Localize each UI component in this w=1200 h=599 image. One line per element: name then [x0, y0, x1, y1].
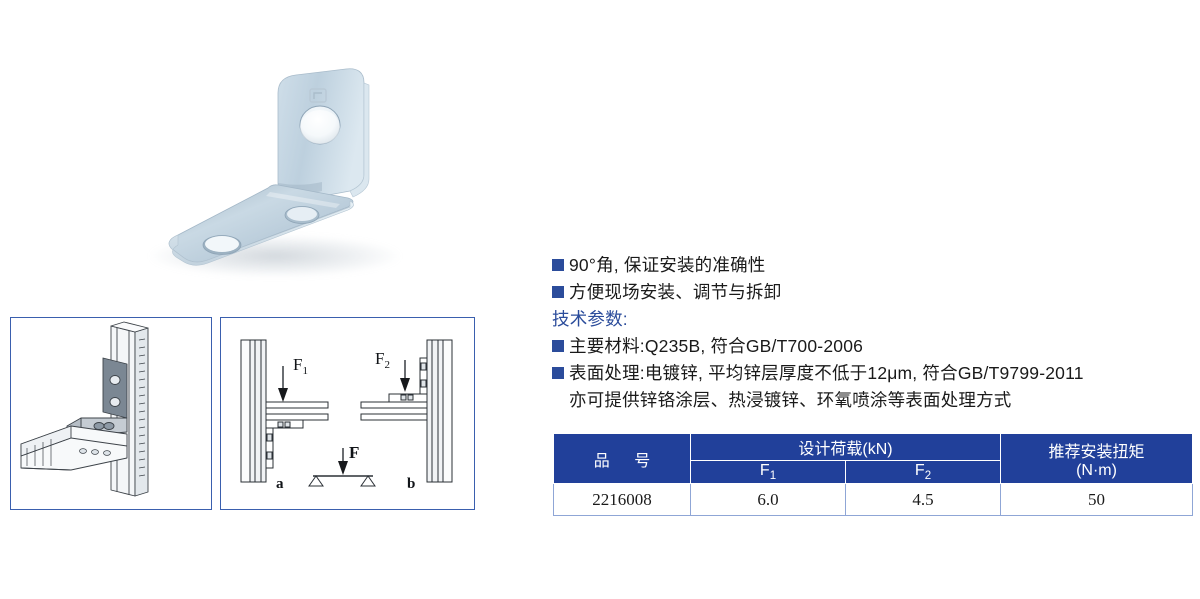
table-body: 2216008 6.0 4.5 50 [554, 484, 1193, 516]
angle-bracket-illustration [150, 55, 410, 285]
feature-item: 90°角, 保证安装的准确性 [552, 252, 1192, 279]
label-f1: F1 [293, 355, 308, 377]
table-header: 品 号 设计荷载(kN) 推荐安装扭矩 (N·m) F1 F2 [554, 434, 1193, 484]
load-diagram-panel: F1 F2 F a b [220, 317, 475, 510]
product-spec-page: F1 F2 F a b 90°角, 保证安装的准确性 方便现场安装、调节与拆卸 … [0, 0, 1200, 599]
product-photo [0, 0, 500, 300]
feature-continuation: 亦可提供锌铬涂层、热浸镀锌、环氧喷涂等表面处理方式 [552, 387, 1192, 414]
label-case-b: b [407, 476, 415, 492]
features-list: 90°角, 保证安装的准确性 方便现场安装、调节与拆卸 技术参数: 主要材料:Q… [552, 252, 1192, 414]
header-f1: F1 [691, 461, 846, 484]
bullet-square-icon [552, 367, 564, 379]
installation-diagram-panel [10, 317, 212, 510]
table-header-row-1: 品 号 设计荷载(kN) 推荐安装扭矩 (N·m) [554, 434, 1193, 461]
label-f2: F2 [375, 349, 390, 371]
feature-text: 表面处理:电镀锌, 平均锌层厚度不低于12μm, 符合GB/T9799-2011 [569, 360, 1084, 387]
photo-stage [0, 0, 500, 300]
angle-bracket-svg [150, 55, 410, 285]
header-torque-line1: 推荐安装扭矩 [1002, 438, 1191, 462]
table-row: 2216008 6.0 4.5 50 [554, 484, 1193, 516]
feature-text: 方便现场安装、调节与拆卸 [569, 279, 781, 306]
tech-params-heading: 技术参数: [552, 306, 1192, 333]
feature-item: 方便现场安装、调节与拆卸 [552, 279, 1192, 306]
bullet-square-icon [552, 286, 564, 298]
cell-torque: 50 [1001, 484, 1193, 516]
header-design-load: 设计荷载(kN) [691, 434, 1001, 461]
feature-text: 主要材料:Q235B, 符合GB/T700-2006 [569, 333, 863, 360]
label-f: F [349, 443, 359, 462]
bullet-square-icon [552, 340, 564, 352]
feature-item: 主要材料:Q235B, 符合GB/T700-2006 [552, 333, 1192, 360]
specification-table: 品 号 设计荷载(kN) 推荐安装扭矩 (N·m) F1 F2 2216008 [553, 433, 1193, 516]
bullet-square-icon [552, 259, 564, 271]
installation-diagram-svg [11, 318, 210, 508]
cell-f2: 4.5 [846, 484, 1001, 516]
cell-f1: 6.0 [691, 484, 846, 516]
feature-text: 90°角, 保证安装的准确性 [569, 252, 766, 279]
load-diagram-svg: F1 F2 F a b [221, 318, 473, 508]
cell-part-no: 2216008 [554, 484, 691, 516]
header-torque-line2: (N·m) [1002, 462, 1191, 480]
header-f2: F2 [846, 461, 1001, 484]
header-part-no: 品 号 [554, 434, 691, 484]
label-case-a: a [276, 476, 284, 492]
feature-item: 表面处理:电镀锌, 平均锌层厚度不低于12μm, 符合GB/T9799-2011 [552, 360, 1192, 387]
header-torque: 推荐安装扭矩 (N·m) [1001, 434, 1193, 484]
